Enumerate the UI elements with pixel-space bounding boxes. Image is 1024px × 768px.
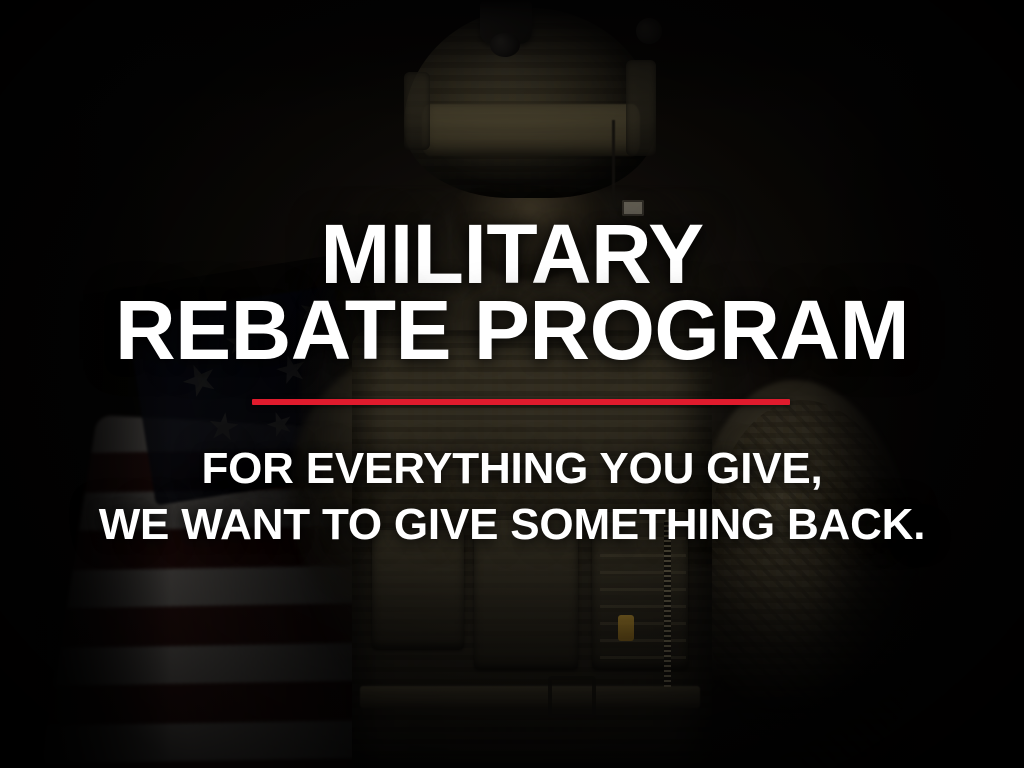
headline-line-2: REBATE PROGRAM [0, 290, 1024, 371]
military-rebate-poster: MILITARY REBATE PROGRAM FOR EVERYTHING Y… [0, 0, 1024, 768]
red-divider-rule [252, 399, 790, 405]
subheadline-line-1: FOR EVERYTHING YOU GIVE, [0, 447, 1024, 491]
text-overlay: MILITARY REBATE PROGRAM FOR EVERYTHING Y… [0, 0, 1024, 768]
subheadline-line-2: WE WANT TO GIVE SOMETHING BACK. [0, 503, 1024, 547]
